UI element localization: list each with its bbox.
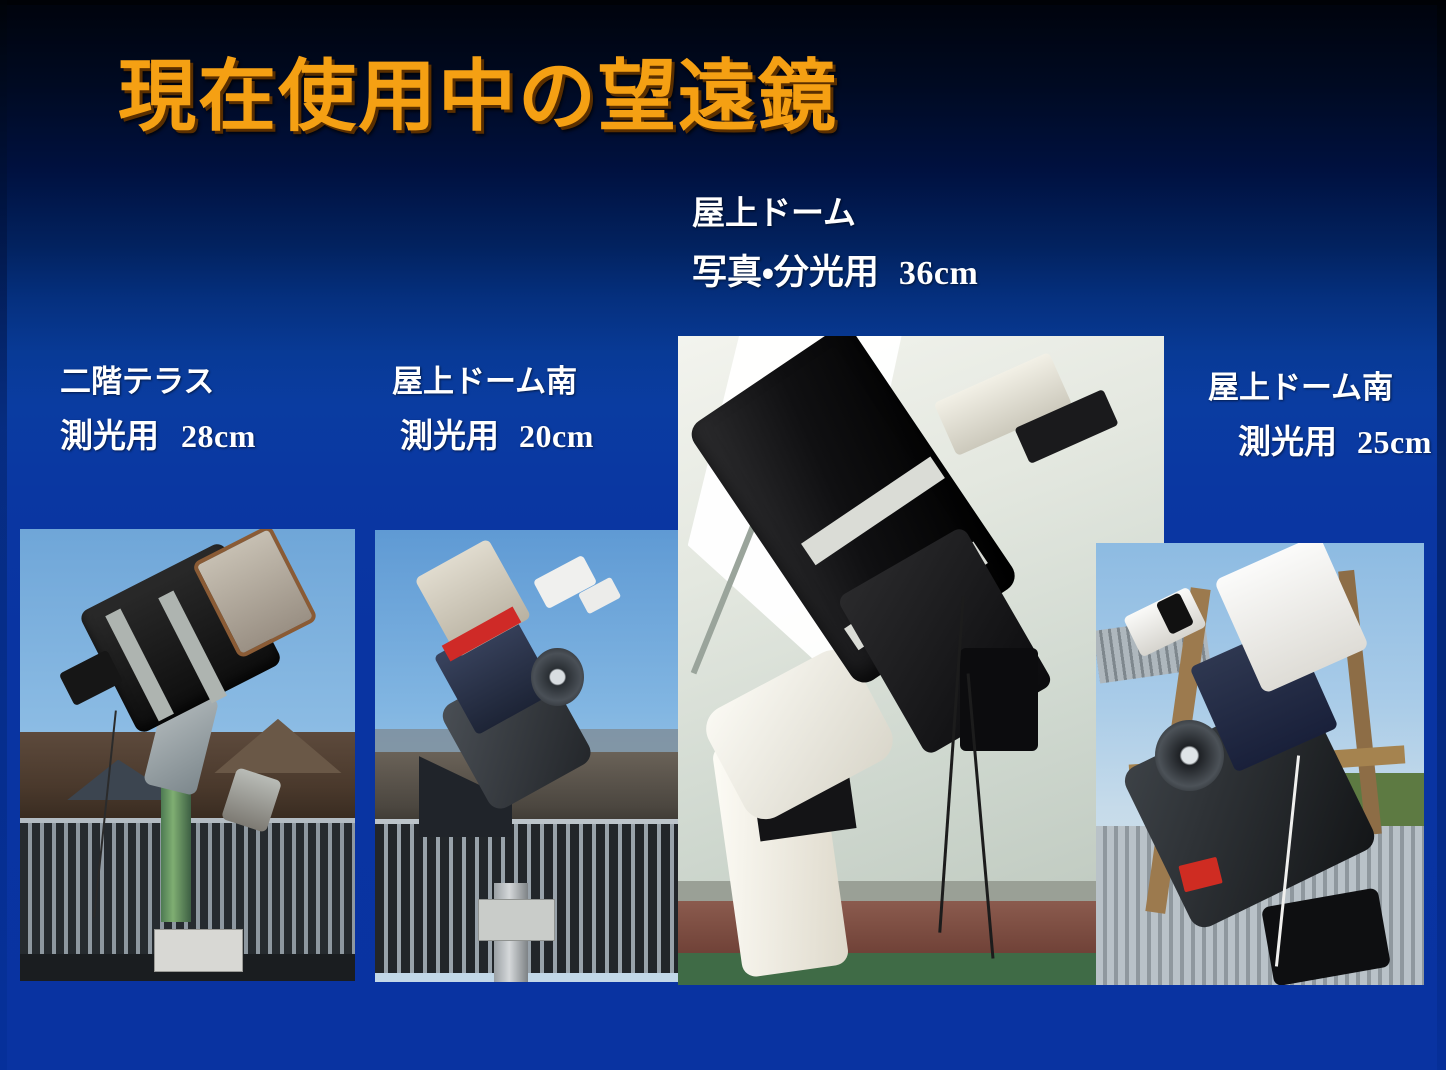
caption-dome-south-20-line2: 測光用20cm [392,419,594,452]
slide-edge-left [0,0,7,1070]
slide-edge-right [1437,0,1446,1070]
caption-dome-south-25: 屋上ドーム南 測光用25cm [1208,372,1432,458]
slide-edge-top [0,0,1446,5]
caption-dome-south-25-line2: 測光用25cm [1208,425,1432,458]
caption-terrace-line2: 測光用28cm [60,419,256,452]
telescope-setting-circle [531,648,584,707]
photo-telescope-28cm [20,529,355,981]
caption-terrace-purpose: 測光用 [60,417,159,454]
photo-telescope-20cm [375,530,687,982]
telescope-setting-circle [1155,720,1224,791]
caption-dome-top-purpose: 写真・分光用 [692,253,879,292]
caption-dome-south-20-purpose: 測光用 [400,417,499,454]
caption-terrace-location: 二階テラス [60,366,256,397]
caption-dome-south-20: 屋上ドーム南 測光用20cm [392,366,594,452]
caption-terrace-aperture: 28cm [181,418,256,454]
caption-dome-south-25-purpose: 測光用 [1238,423,1337,460]
caption-dome-top: 屋上ドーム 写真・分光用36cm [692,196,978,291]
caption-dome-south-20-location: 屋上ドーム南 [392,366,594,397]
caption-dome-top-location: 屋上ドーム [692,196,978,229]
slide-root: 現在使用中の望遠鏡 屋上ドーム 写真・分光用36cm 二階テラス 測光用28cm… [0,0,1446,1070]
caption-dome-top-aperture: 36cm [899,255,978,292]
caption-terrace: 二階テラス 測光用28cm [60,366,256,452]
caption-dome-top-line2: 写真・分光用36cm [692,255,978,291]
photo-telescope-36cm [678,336,1164,985]
slide-title: 現在使用中の望遠鏡 [118,56,838,138]
telescope-control-box [154,929,243,972]
photo-railing [375,819,687,973]
telescope-control-box [478,899,555,942]
caption-dome-south-20-aperture: 20cm [519,418,594,454]
photo-telescope-25cm [1096,543,1424,985]
caption-dome-south-25-location: 屋上ドーム南 [1208,372,1432,403]
telescope-pier [161,778,191,923]
caption-dome-south-25-aperture: 25cm [1357,424,1432,460]
